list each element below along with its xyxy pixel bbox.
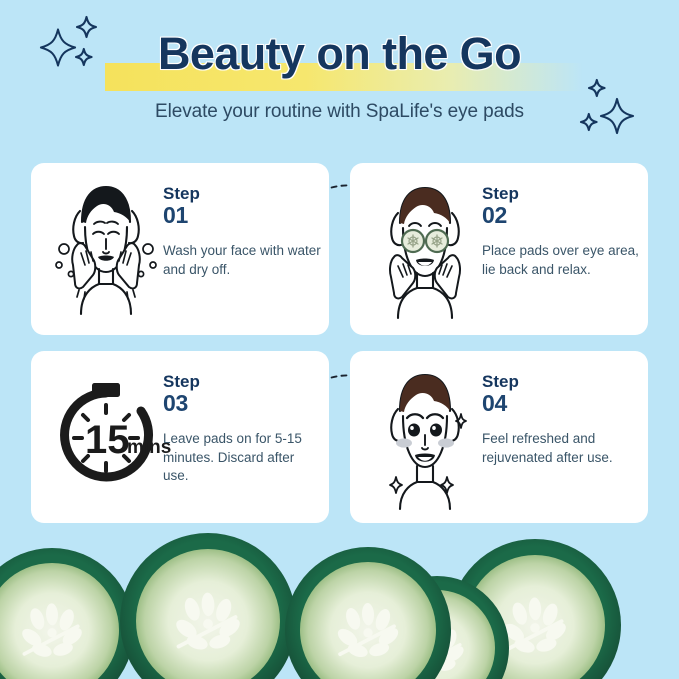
step-card-04[interactable]: Step 04 Feel refreshed and rejuvenated a… [350,351,648,523]
step-label: Step [163,185,323,203]
page-title: Beauty on the Go [0,28,679,80]
step-number: 01 [163,203,323,229]
page-subtitle: Elevate your routine with SpaLife's eye … [0,101,679,123]
cucumber-slices-row [0,520,679,679]
step-description: Place pads over eye area, lie back and r… [482,242,642,279]
timer-15-mins-icon: 15 mins [41,361,171,513]
step-card-03[interactable]: 15 mins Step 03 Leave pads on for 5-15 m… [31,351,329,523]
step-label: Step [163,373,323,391]
step-label: Step [482,185,642,203]
step-number: 04 [482,391,642,417]
step-card-01[interactable]: Step 01 Wash your face with water and dr… [31,163,329,335]
woman-applying-eye-pads-icon [360,173,490,325]
step-label: Step [482,373,642,391]
timer-value: 15 [85,418,130,462]
cucumber-slice [120,533,296,679]
step-description: Feel refreshed and rejuvenated after use… [482,430,642,467]
step-number: 02 [482,203,642,229]
cucumber-slice [0,548,134,679]
step-number: 03 [163,391,323,417]
step-text-02: Step 02 Place pads over eye area, lie ba… [482,185,642,279]
header: Beauty on the Go Elevate your routine wi… [0,0,679,150]
step-text-04: Step 04 Feel refreshed and rejuvenated a… [482,373,642,467]
step-card-02[interactable]: Step 02 Place pads over eye area, lie ba… [350,163,648,335]
poster-canvas: Beauty on the Go Elevate your routine wi… [0,0,679,679]
woman-washing-face-icon [41,173,171,325]
cucumber-slice [285,547,451,679]
step-text-03: Step 03 Leave pads on for 5-15 minutes. … [163,373,323,486]
step-description: Wash your face with water and dry off. [163,242,323,279]
step-description: Leave pads on for 5-15 minutes. Discard … [163,430,323,486]
woman-refreshed-face-icon [360,361,490,513]
step-text-01: Step 01 Wash your face with water and dr… [163,185,323,279]
